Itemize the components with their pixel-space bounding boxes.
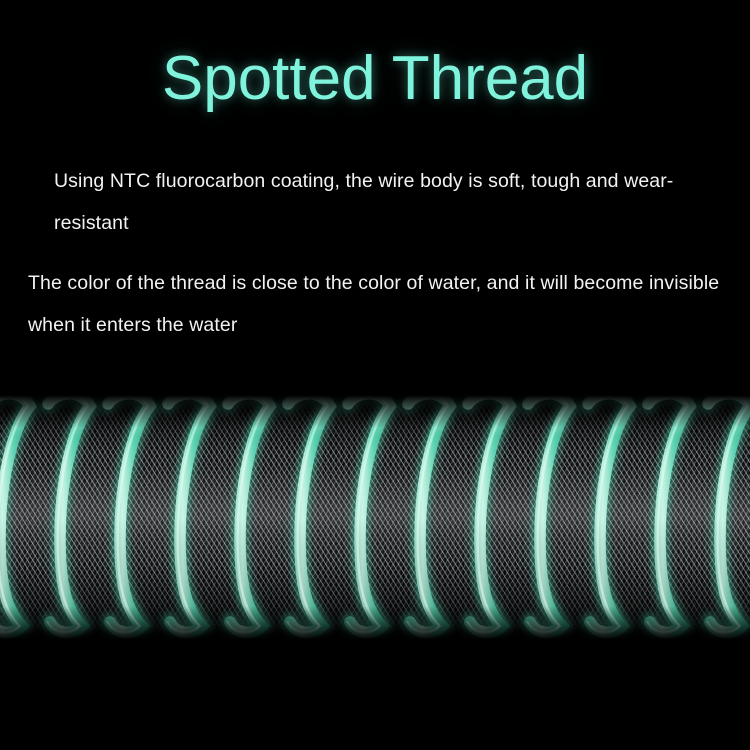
description-block: Using NTC fluorocarbon coating, the wire…: [0, 160, 750, 346]
product-photo: [0, 388, 750, 646]
description-paragraph-1: Using NTC fluorocarbon coating, the wire…: [0, 160, 750, 244]
product-banner: Spotted Thread Using NTC fluorocarbon co…: [0, 0, 750, 750]
description-paragraph-2: The color of the thread is close to the …: [0, 262, 750, 346]
page-title: Spotted Thread: [0, 46, 750, 111]
spool-body: [0, 402, 750, 634]
